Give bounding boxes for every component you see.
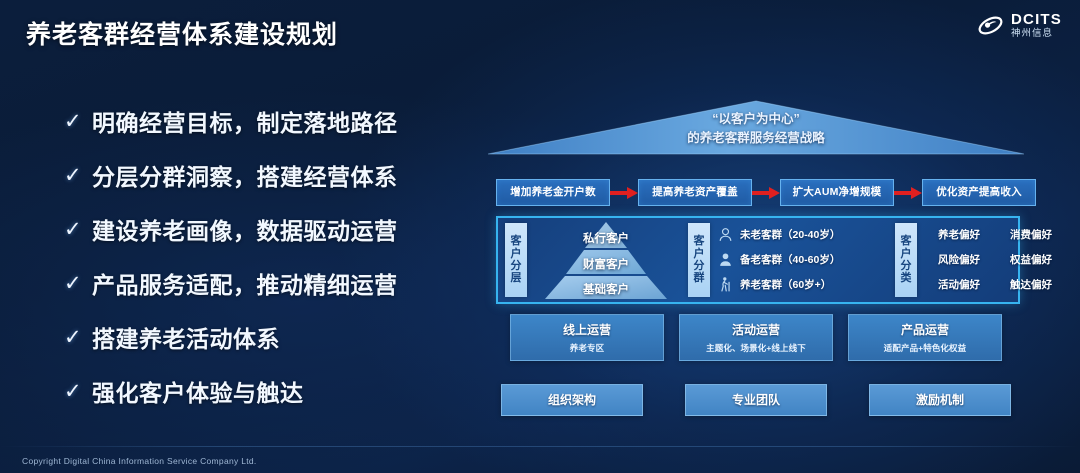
- classify-vertical-label: 客户分类: [895, 223, 917, 297]
- tier-level-1: 私行客户: [541, 230, 671, 246]
- group-vertical-label: 客户分群: [688, 223, 710, 297]
- goal-box[interactable]: 增加养老金开户数: [496, 179, 610, 206]
- adult-person-icon: [716, 250, 735, 269]
- operation-box[interactable]: 产品运营 适配产品+特色化权益: [848, 314, 1002, 361]
- group-row: 未老客群（20-40岁）: [716, 222, 888, 246]
- list-item: ✓ 搭建养老活动体系: [64, 320, 464, 354]
- bullet-text: 强化客户体验与触达: [92, 374, 304, 408]
- classify-label-text: 客户分类: [901, 235, 912, 284]
- list-item: ✓ 明确经营目标，制定落地路径: [64, 104, 464, 138]
- logo-en-text: DCITS: [1011, 12, 1062, 27]
- tier-label-text: 客户分层: [511, 235, 522, 284]
- operation-title: 产品运营: [901, 321, 949, 338]
- tier-section: 私行客户 财富客户 基础客户: [527, 218, 681, 302]
- check-icon: ✓: [64, 327, 85, 348]
- operation-title: 活动运营: [732, 321, 780, 338]
- list-item: ✓ 建设养老画像，数据驱动运营: [64, 212, 464, 246]
- foundation-box[interactable]: 组织架构: [501, 384, 643, 416]
- list-item: ✓ 强化客户体验与触达: [64, 374, 464, 408]
- young-person-icon: [716, 225, 735, 244]
- operation-box[interactable]: 线上运营 养老专区: [510, 314, 664, 361]
- classify-cell: 活动偏好: [923, 277, 995, 292]
- tier-level-3: 基础客户: [541, 281, 671, 297]
- arrow-right-icon: [610, 186, 638, 200]
- foundation-row: 组织架构 专业团队 激励机制: [501, 384, 1011, 416]
- classify-cell: 权益偏好: [995, 252, 1067, 267]
- operation-subtitle: 主题化、场景化+线上线下: [706, 342, 806, 354]
- group-section: 未老客群（20-40岁） 备老客群（40-60岁）: [710, 218, 888, 302]
- foundation-box[interactable]: 激励机制: [869, 384, 1011, 416]
- group-label: 养老客群（60岁+）: [740, 277, 831, 292]
- bullet-text: 产品服务适配，推动精细运营: [92, 266, 398, 300]
- classify-row: 活动偏好 触达偏好: [923, 272, 1067, 296]
- list-item: ✓ 分层分群洞察，搭建经营体系: [64, 158, 464, 192]
- check-icon: ✓: [64, 219, 85, 240]
- operation-subtitle: 适配产品+特色化权益: [884, 342, 966, 354]
- list-item: ✓ 产品服务适配，推动精细运营: [64, 266, 464, 300]
- operation-box[interactable]: 活动运营 主题化、场景化+线上线下: [679, 314, 833, 361]
- operations-row: 线上运营 养老专区 活动运营 主题化、场景化+线上线下 产品运营 适配产品+特色…: [510, 314, 1002, 361]
- group-label: 未老客群（20-40岁）: [740, 227, 840, 242]
- bullet-text: 明确经营目标，制定落地路径: [92, 104, 398, 138]
- brand-logo: DCITS 神州信息: [977, 12, 1062, 39]
- strategy-roof: “以客户为中心” 的养老客群服务经营战略: [488, 92, 1024, 164]
- bullet-text: 建设养老画像，数据驱动运营: [92, 212, 398, 246]
- footer-divider: [0, 446, 1080, 447]
- arrow-right-icon: [752, 186, 780, 200]
- foundation-box[interactable]: 专业团队: [685, 384, 827, 416]
- tier-vertical-label: 客户分层: [505, 223, 527, 297]
- tier-level-2: 财富客户: [541, 256, 671, 272]
- operation-title: 线上运营: [563, 321, 611, 338]
- logo-cn-text: 神州信息: [1011, 29, 1062, 39]
- check-icon: ✓: [64, 111, 85, 132]
- bullet-list: ✓ 明确经营目标，制定落地路径 ✓ 分层分群洞察，搭建经营体系 ✓ 建设养老画像…: [64, 104, 464, 428]
- check-icon: ✓: [64, 381, 85, 402]
- roof-text: “以客户为中心” 的养老客群服务经营战略: [488, 110, 1024, 149]
- classify-cell: 触达偏好: [995, 277, 1067, 292]
- customer-panel: 客户分层: [496, 216, 1020, 304]
- copyright-text: Copyright Digital China Information Serv…: [22, 456, 257, 466]
- slide-canvas: 养老客群经营体系建设规划 DCITS 神州信息 ✓ 明确经营目标，制定落地路径 …: [0, 0, 1080, 473]
- classify-cell: 消费偏好: [995, 227, 1067, 242]
- dcits-swirl-icon: [977, 12, 1004, 39]
- goal-box[interactable]: 优化资产提高收入: [922, 179, 1036, 206]
- operation-subtitle: 养老专区: [570, 342, 604, 354]
- classify-cell: 风险偏好: [923, 252, 995, 267]
- roof-line-1: “以客户为中心”: [488, 110, 1024, 129]
- goal-box[interactable]: 扩大AUM净增规模: [780, 179, 894, 206]
- classify-row: 养老偏好 消费偏好: [923, 222, 1067, 246]
- group-label-text: 客户分群: [694, 235, 705, 284]
- classify-section: 养老偏好 消费偏好 风险偏好 权益偏好 活动偏好 触达偏好: [917, 218, 1071, 302]
- page-title: 养老客群经营体系建设规划: [26, 15, 338, 51]
- strategy-diagram: “以客户为中心” 的养老客群服务经营战略 增加养老金开户数 提高养老资产覆盖 扩…: [488, 92, 1024, 432]
- goal-flow: 增加养老金开户数 提高养老资产覆盖 扩大AUM净增规模 优化资产提高收入: [496, 180, 1016, 205]
- roof-line-2: 的养老客群服务经营战略: [488, 129, 1024, 148]
- goal-box[interactable]: 提高养老资产覆盖: [638, 179, 752, 206]
- check-icon: ✓: [64, 273, 85, 294]
- check-icon: ✓: [64, 165, 85, 186]
- group-row: 养老客群（60岁+）: [716, 272, 888, 296]
- bullet-text: 搭建养老活动体系: [92, 320, 280, 354]
- elderly-person-icon: [716, 275, 735, 294]
- group-label: 备老客群（40-60岁）: [740, 252, 840, 267]
- classify-cell: 养老偏好: [923, 227, 995, 242]
- classify-row: 风险偏好 权益偏好: [923, 247, 1067, 271]
- group-row: 备老客群（40-60岁）: [716, 247, 888, 271]
- pyramid-chart: 私行客户 财富客户 基础客户: [541, 220, 671, 300]
- arrow-right-icon: [894, 186, 922, 200]
- bullet-text: 分层分群洞察，搭建经营体系: [92, 158, 398, 192]
